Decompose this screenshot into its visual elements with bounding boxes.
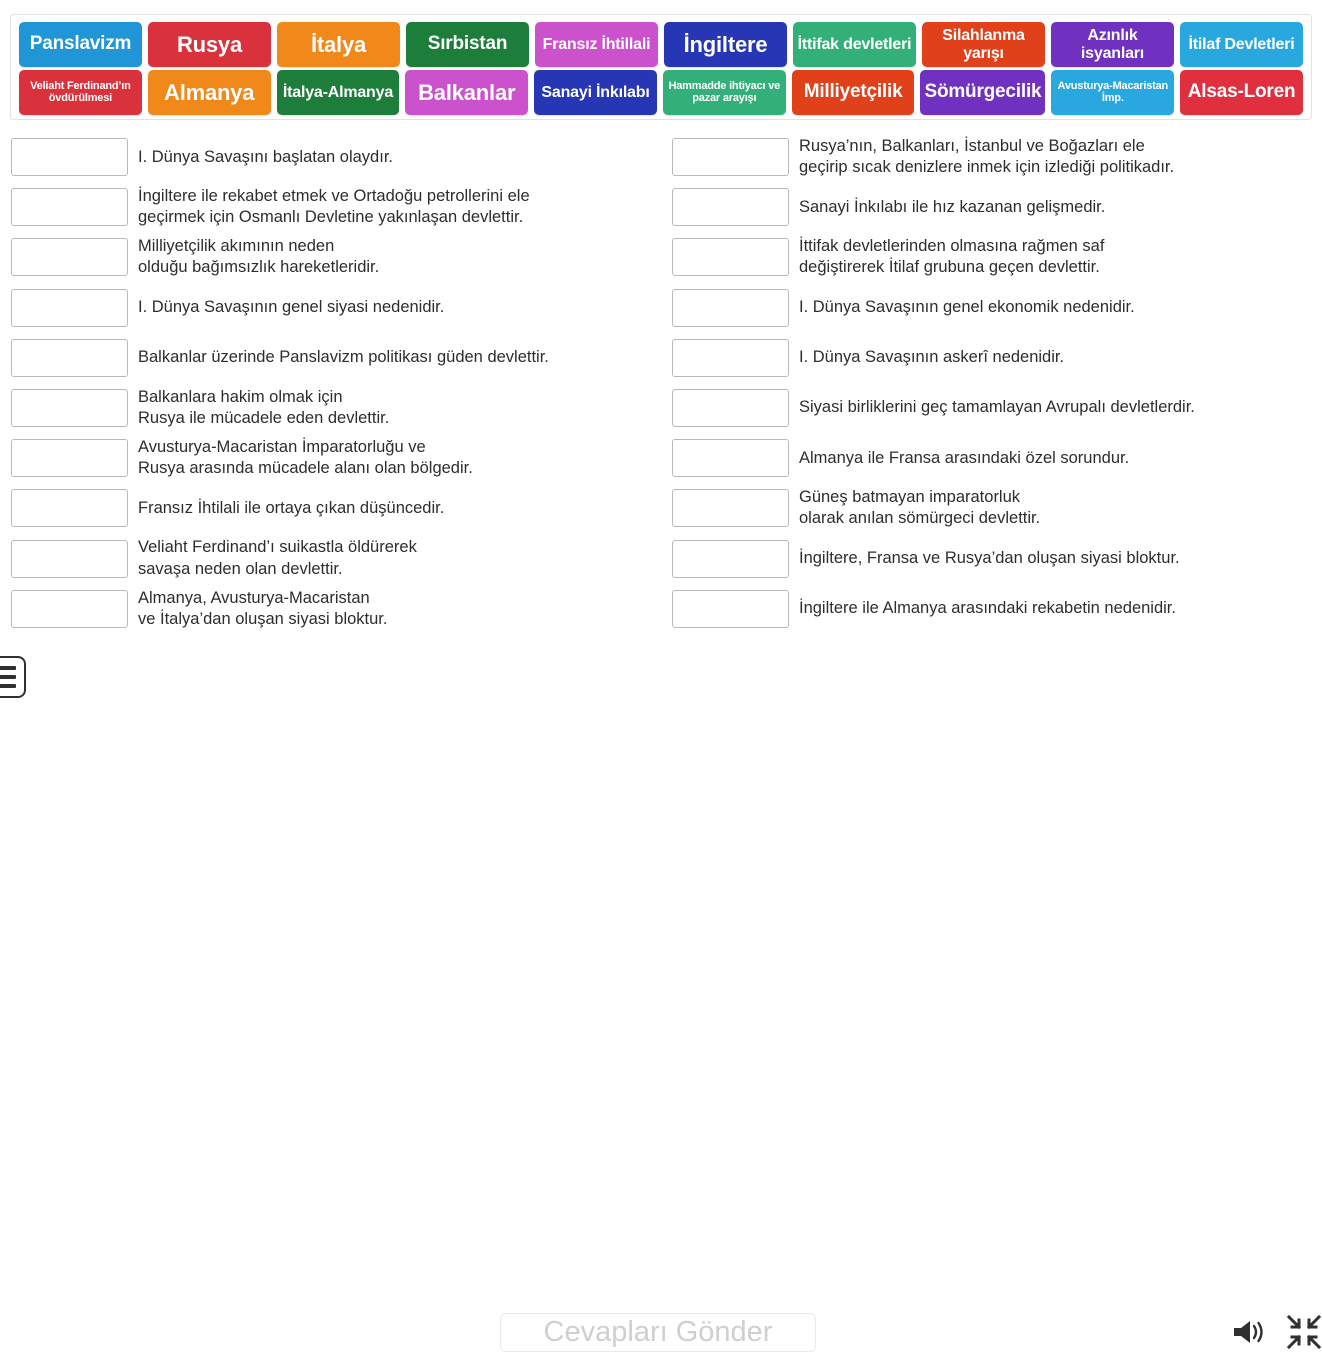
word-tile[interactable]: Panslavizm	[19, 22, 142, 67]
answer-text: İttifak devletlerinden olmasına rağmen s…	[799, 236, 1104, 278]
answer-text: İngiltere ile Almanya arasındaki rekabet…	[799, 598, 1176, 619]
menu-bar-1	[0, 666, 16, 670]
answer-row: İngiltere, Fransa ve Rusya’dan oluşan si…	[672, 534, 1322, 584]
answer-row: İngiltere ile Almanya arasındaki rekabet…	[672, 584, 1322, 634]
answer-row: Sanayi İnkılabı ile hız kazanan gelişmed…	[672, 182, 1322, 232]
answer-text: Güneş batmayan imparatorluk olarak anıla…	[799, 487, 1040, 529]
drop-slot[interactable]	[672, 389, 789, 427]
word-tile-tray: PanslavizmRusyaİtalyaSırbistanFransız İh…	[10, 14, 1312, 120]
word-tile[interactable]: Sanayi İnkılabı	[534, 70, 657, 115]
word-tile[interactable]: Balkanlar	[405, 70, 528, 115]
tile-row-2: Veliaht Ferdinand’ın övdürülmesiAlmanyaİ…	[19, 70, 1303, 115]
answer-text: I. Dünya Savaşının genel ekonomik nedeni…	[799, 297, 1135, 318]
word-tile[interactable]: İtalya	[277, 22, 400, 67]
answer-text: Sanayi İnkılabı ile hız kazanan gelişmed…	[799, 197, 1105, 218]
submit-answers-button[interactable]: Cevapları Gönder	[500, 1313, 816, 1352]
drop-slot[interactable]	[672, 238, 789, 276]
drop-slot[interactable]	[672, 188, 789, 226]
drop-slot[interactable]	[672, 289, 789, 327]
exit-fullscreen-icon[interactable]	[1284, 1312, 1322, 1352]
word-tile[interactable]: İngiltere	[664, 22, 787, 67]
word-tile[interactable]: İtilaf Devletleri	[1180, 22, 1303, 67]
word-tile[interactable]: Azınlık isyanları	[1051, 22, 1174, 67]
answer-text: Rusya’nın, Balkanları, İstanbul ve Boğaz…	[799, 136, 1174, 178]
word-tile[interactable]: Avusturya-Macaristan İmp.	[1051, 70, 1174, 115]
word-tile[interactable]: İtalya-Almanya	[277, 70, 400, 115]
word-tile[interactable]: İttifak devletleri	[793, 22, 916, 67]
word-tile[interactable]: Almanya	[148, 70, 271, 115]
drop-slot[interactable]	[672, 439, 789, 477]
drop-slot[interactable]	[672, 489, 789, 527]
answer-area: I. Dünya Savaşını başlatan olaydır.İngil…	[0, 132, 1322, 642]
answer-row: Rusya’nın, Balkanları, İstanbul ve Boğaz…	[672, 132, 1322, 182]
speaker-on-icon[interactable]	[1229, 1312, 1269, 1352]
word-tile[interactable]: Sırbistan	[406, 22, 529, 67]
answer-row: İttifak devletlerinden olmasına rağmen s…	[672, 232, 1322, 282]
drop-slot[interactable]	[672, 138, 789, 176]
answer-row: I. Dünya Savaşının askerî nedenidir.	[672, 333, 1322, 383]
word-tile[interactable]: Hammadde ihtiyacı ve pazar arayışı	[663, 70, 786, 115]
word-tile[interactable]: Alsas-Loren	[1180, 70, 1303, 115]
word-tile[interactable]: Milliyetçilik	[792, 70, 915, 115]
word-tile[interactable]: Sömürgecilik	[920, 70, 1045, 115]
bottom-toolbar: Cevapları Gönder	[0, 648, 1322, 704]
answer-text: İngiltere, Fransa ve Rusya’dan oluşan si…	[799, 548, 1180, 569]
menu-bar-2	[0, 675, 16, 679]
drop-slot[interactable]	[672, 590, 789, 628]
word-tile[interactable]: Veliaht Ferdinand’ın övdürülmesi	[19, 70, 142, 115]
answer-row: Almanya ile Fransa arasındaki özel sorun…	[672, 433, 1322, 483]
answer-text: I. Dünya Savaşının askerî nedenidir.	[799, 347, 1064, 368]
answer-column-right: Rusya’nın, Balkanları, İstanbul ve Boğaz…	[0, 132, 1322, 642]
answer-row: Güneş batmayan imparatorluk olarak anıla…	[672, 483, 1322, 533]
answer-text: Almanya ile Fransa arasındaki özel sorun…	[799, 448, 1129, 469]
answer-text: Siyasi birliklerini geç tamamlayan Avrup…	[799, 397, 1195, 418]
word-tile[interactable]: Silahlanma yarışı	[922, 22, 1045, 67]
answer-row: Siyasi birliklerini geç tamamlayan Avrup…	[672, 383, 1322, 433]
word-tile[interactable]: Fransız İhtillali	[535, 22, 658, 67]
answer-row: I. Dünya Savaşının genel ekonomik nedeni…	[672, 283, 1322, 333]
tile-row-1: PanslavizmRusyaİtalyaSırbistanFransız İh…	[19, 22, 1303, 67]
drop-slot[interactable]	[672, 540, 789, 578]
hamburger-menu-icon[interactable]	[0, 656, 26, 698]
menu-bar-3	[0, 684, 16, 688]
drop-slot[interactable]	[672, 339, 789, 377]
word-tile[interactable]: Rusya	[148, 22, 271, 67]
